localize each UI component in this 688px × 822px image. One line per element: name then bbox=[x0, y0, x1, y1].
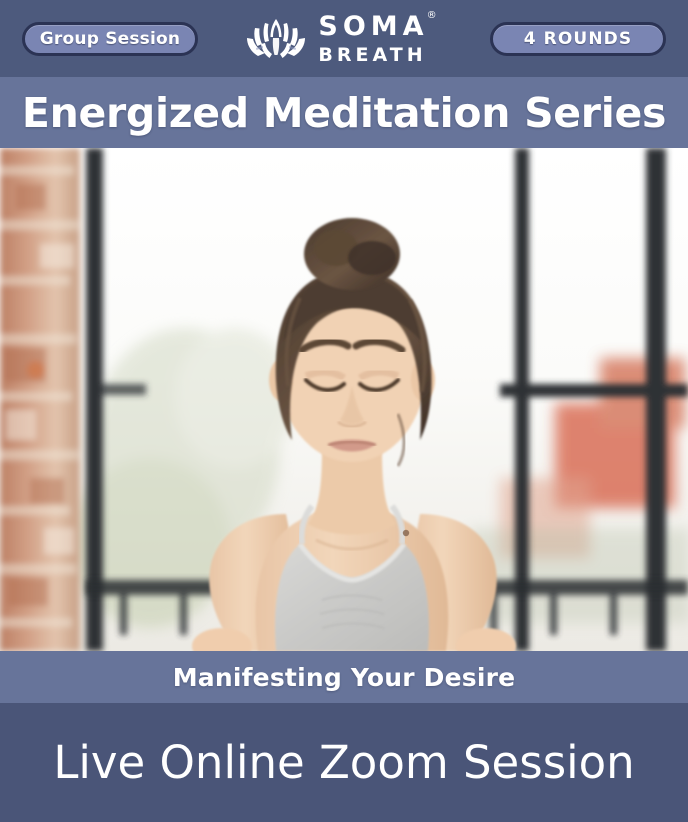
subtitle-band: Manifesting Your Desire bbox=[0, 651, 688, 703]
title-band: Energized Meditation Series bbox=[0, 77, 688, 148]
session-subtitle: Manifesting Your Desire bbox=[173, 663, 516, 692]
rounds-badge-label: 4 ROUNDS bbox=[524, 29, 632, 49]
meditating-woman-image bbox=[0, 148, 688, 651]
group-session-badge[interactable]: Group Session bbox=[22, 22, 198, 56]
header-bar: Group Session bbox=[0, 0, 688, 77]
logo-wordmark: SOMA ® BREATH bbox=[318, 13, 436, 65]
rounds-badge[interactable]: 4 ROUNDS bbox=[490, 22, 666, 56]
footer-band: Live Online Zoom Session bbox=[0, 703, 688, 822]
soma-breath-logo: SOMA ® BREATH bbox=[243, 13, 436, 65]
page-title: Energized Meditation Series bbox=[22, 89, 666, 137]
logo-secondary-text: BREATH bbox=[318, 46, 436, 65]
group-session-badge-label: Group Session bbox=[40, 29, 180, 49]
session-format-label: Live Online Zoom Session bbox=[53, 736, 634, 789]
hero-photo bbox=[0, 148, 688, 651]
lotus-icon bbox=[243, 15, 309, 63]
registered-trademark-icon: ® bbox=[427, 11, 437, 21]
logo-primary-text: SOMA bbox=[318, 13, 428, 40]
soma-breath-session-poster: Group Session bbox=[0, 0, 688, 822]
